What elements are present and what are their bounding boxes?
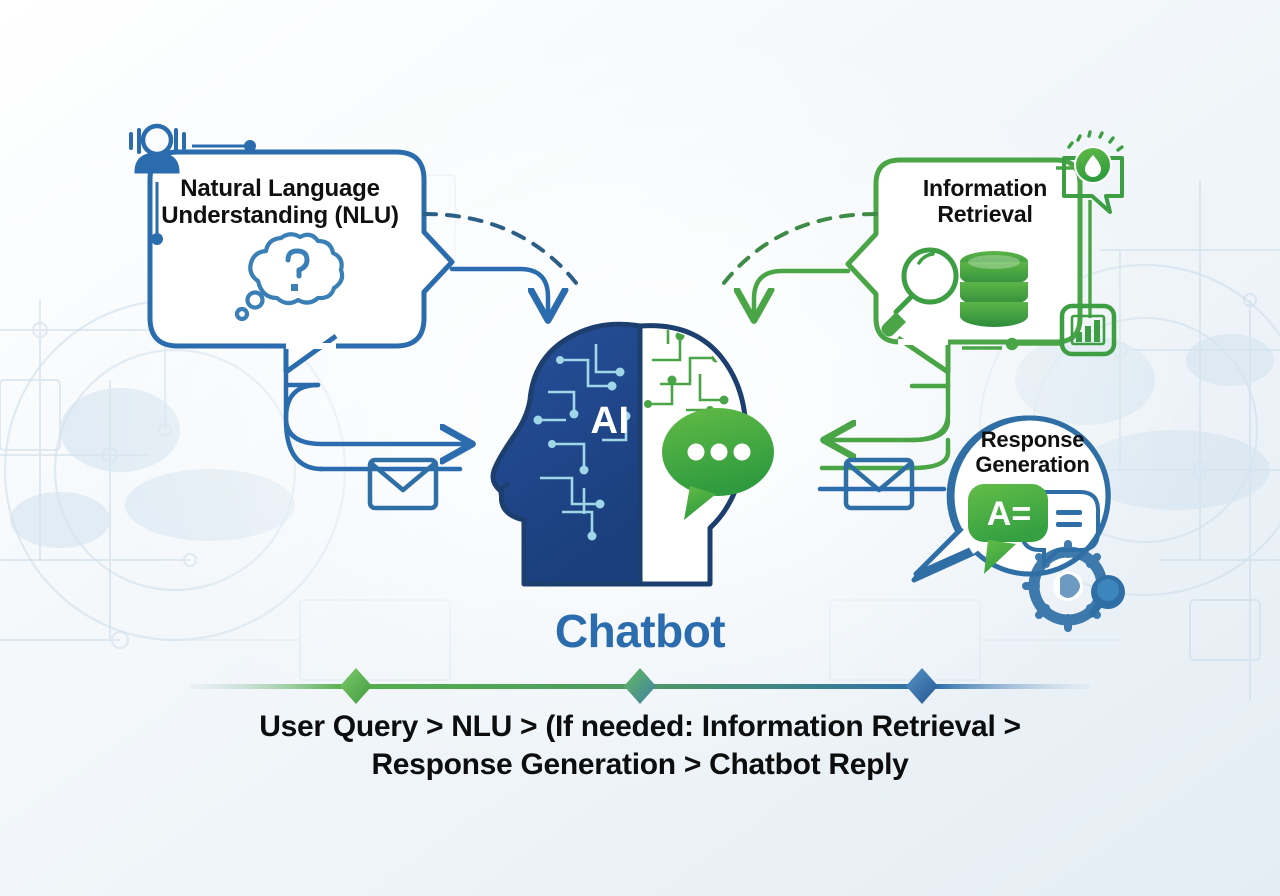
flow-caption-line1: User Query > NLU > (If needed: Informati… — [259, 710, 1021, 743]
nlu-label: Natural Language Understanding (NLU) — [160, 176, 400, 230]
ir-label: Information Retrieval — [890, 176, 1080, 228]
ir-label-line1: Information — [923, 175, 1047, 201]
flow-caption: User Query > NLU > (If needed: Informati… — [190, 708, 1090, 785]
ai-center-label: AI — [575, 400, 645, 443]
answer-bubble-text: A= — [978, 495, 1040, 534]
rg-label: Response Generation — [950, 428, 1115, 477]
flow-caption-line2: Response Generation > Chatbot Reply — [371, 748, 908, 781]
page-title: Chatbot — [0, 604, 1280, 658]
infographic-canvas: Natural Language Understanding (NLU) Inf… — [0, 0, 1280, 896]
nlu-label-line2: Understanding (NLU) — [161, 202, 399, 229]
nlu-label-line1: Natural Language — [180, 175, 380, 202]
ir-label-line2: Retrieval — [937, 201, 1032, 227]
rg-label-line1: Response — [981, 427, 1085, 452]
rg-label-line2: Generation — [975, 452, 1089, 477]
